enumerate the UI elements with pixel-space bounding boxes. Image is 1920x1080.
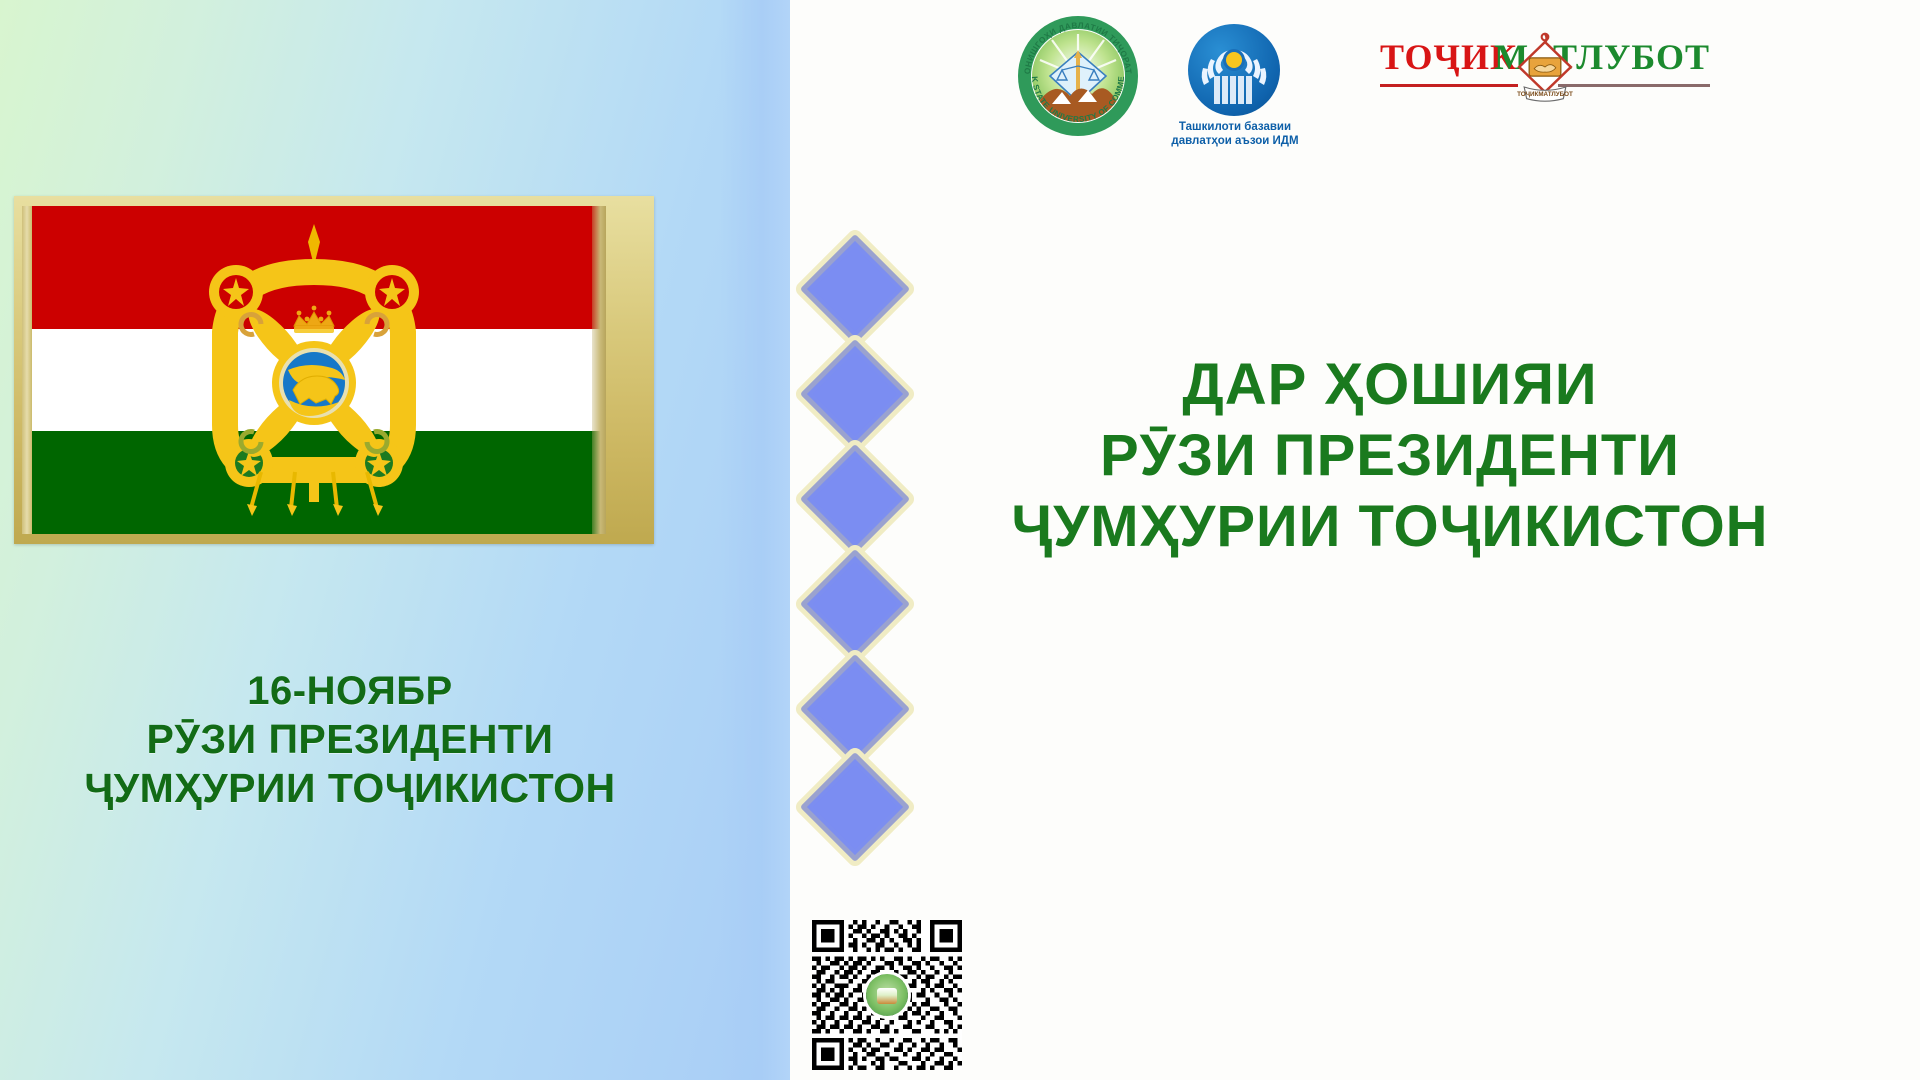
diamond-icon — [800, 549, 910, 659]
cis-caption-line2: давлатҳои аъзои ИДМ — [1162, 134, 1308, 148]
tojikmatlubot-wordmark: ТОҶИК МАТЛУБОТ ТОҶИКМАТЛУБОТ — [1380, 18, 1710, 104]
diamond-icon — [800, 234, 910, 344]
diamond-icon — [800, 752, 910, 862]
flag-pole-edge — [22, 206, 32, 534]
diamond-icon — [800, 654, 910, 764]
headline-block: ДАР ҲОШИЯИ РӮЗИ ПРЕЗИДЕНТИ ҶУМҲУРИИ ТОҶИ… — [880, 350, 1900, 562]
headline-line3: ҶУМҲУРИИ ТОҶИКИСТОН — [880, 492, 1900, 563]
flag-of-tajikistan — [14, 196, 654, 544]
flag-right-edge — [592, 206, 606, 534]
logo-row: ДОНИШГОҲИ ДАВЛАТИИ ТИҶОРАТИ TAJIK STATE … — [1000, 8, 1830, 148]
flag-caption: 16-НОЯБР РӮЗИ ПРЕЗИДЕНТИ ҶУМҲУРИИ ТОҶИКИ… — [0, 668, 700, 812]
flag-caption-line3: ҶУМҲУРИИ ТОҶИКИСТОН — [0, 764, 700, 812]
cis-logo: Ташкилоти базавии давлатҳои аъзои ИДМ — [1188, 24, 1280, 116]
matlubot-ribbon-text: ТОҶИКМАТЛУБОТ — [1517, 91, 1573, 98]
university-seal-logo: ДОНИШГОҲИ ДАВЛАТИИ ТИҶОРАТИ TAJIK STATE … — [1018, 16, 1138, 136]
matlubot-emblem-icon: ТОҶИКМАТЛУБОТ — [1510, 32, 1580, 102]
tojikmatlubot-logo: ТОҶИК МАТЛУБОТ ТОҶИКМАТЛУБОТ — [1380, 18, 1710, 104]
tajikistan-emblem-icon — [189, 220, 439, 520]
qr-center-logo — [866, 974, 908, 1016]
qr-code-canvas — [812, 920, 962, 1070]
cis-logo-caption: Ташкилоти базавии давлатҳои аъзои ИДМ — [1162, 120, 1308, 149]
flag-caption-line1: 16-НОЯБР — [0, 668, 700, 715]
flag-body — [22, 206, 606, 534]
cis-caption-line1: Ташкилоти базавии — [1162, 120, 1308, 134]
matlubot-rule-left — [1380, 84, 1518, 87]
tajik-state-university-of-commerce-seal-icon: ДОНИШГОҲИ ДАВЛАТИИ ТИҶОРАТИ TAJIK STATE … — [1018, 16, 1138, 136]
svg-text:ДОНИШГОҲИ ДАВЛАТИИ ТИҶОРАТИ: ДОНИШГОҲИ ДАВЛАТИИ ТИҶОРАТИ — [1018, 16, 1133, 75]
matlubot-rule-right — [1558, 84, 1710, 87]
seal-ring-text: ДОНИШГОҲИ ДАВЛАТИИ ТИҶОРАТИ TAJIK STATE … — [1018, 16, 1138, 136]
headline-line2: РӮЗИ ПРЕЗИДЕНТИ — [880, 421, 1900, 492]
qr-code[interactable] — [812, 920, 962, 1070]
cis-emblem-icon — [1188, 24, 1280, 116]
headline-line1: ДАР ҲОШИЯИ — [880, 350, 1900, 421]
slide-canvas: 16-НОЯБР РӮЗИ ПРЕЗИДЕНТИ ҶУМҲУРИИ ТОҶИКИ… — [0, 0, 1920, 1080]
flag-caption-line2: РӮЗИ ПРЕЗИДЕНТИ — [0, 715, 700, 763]
